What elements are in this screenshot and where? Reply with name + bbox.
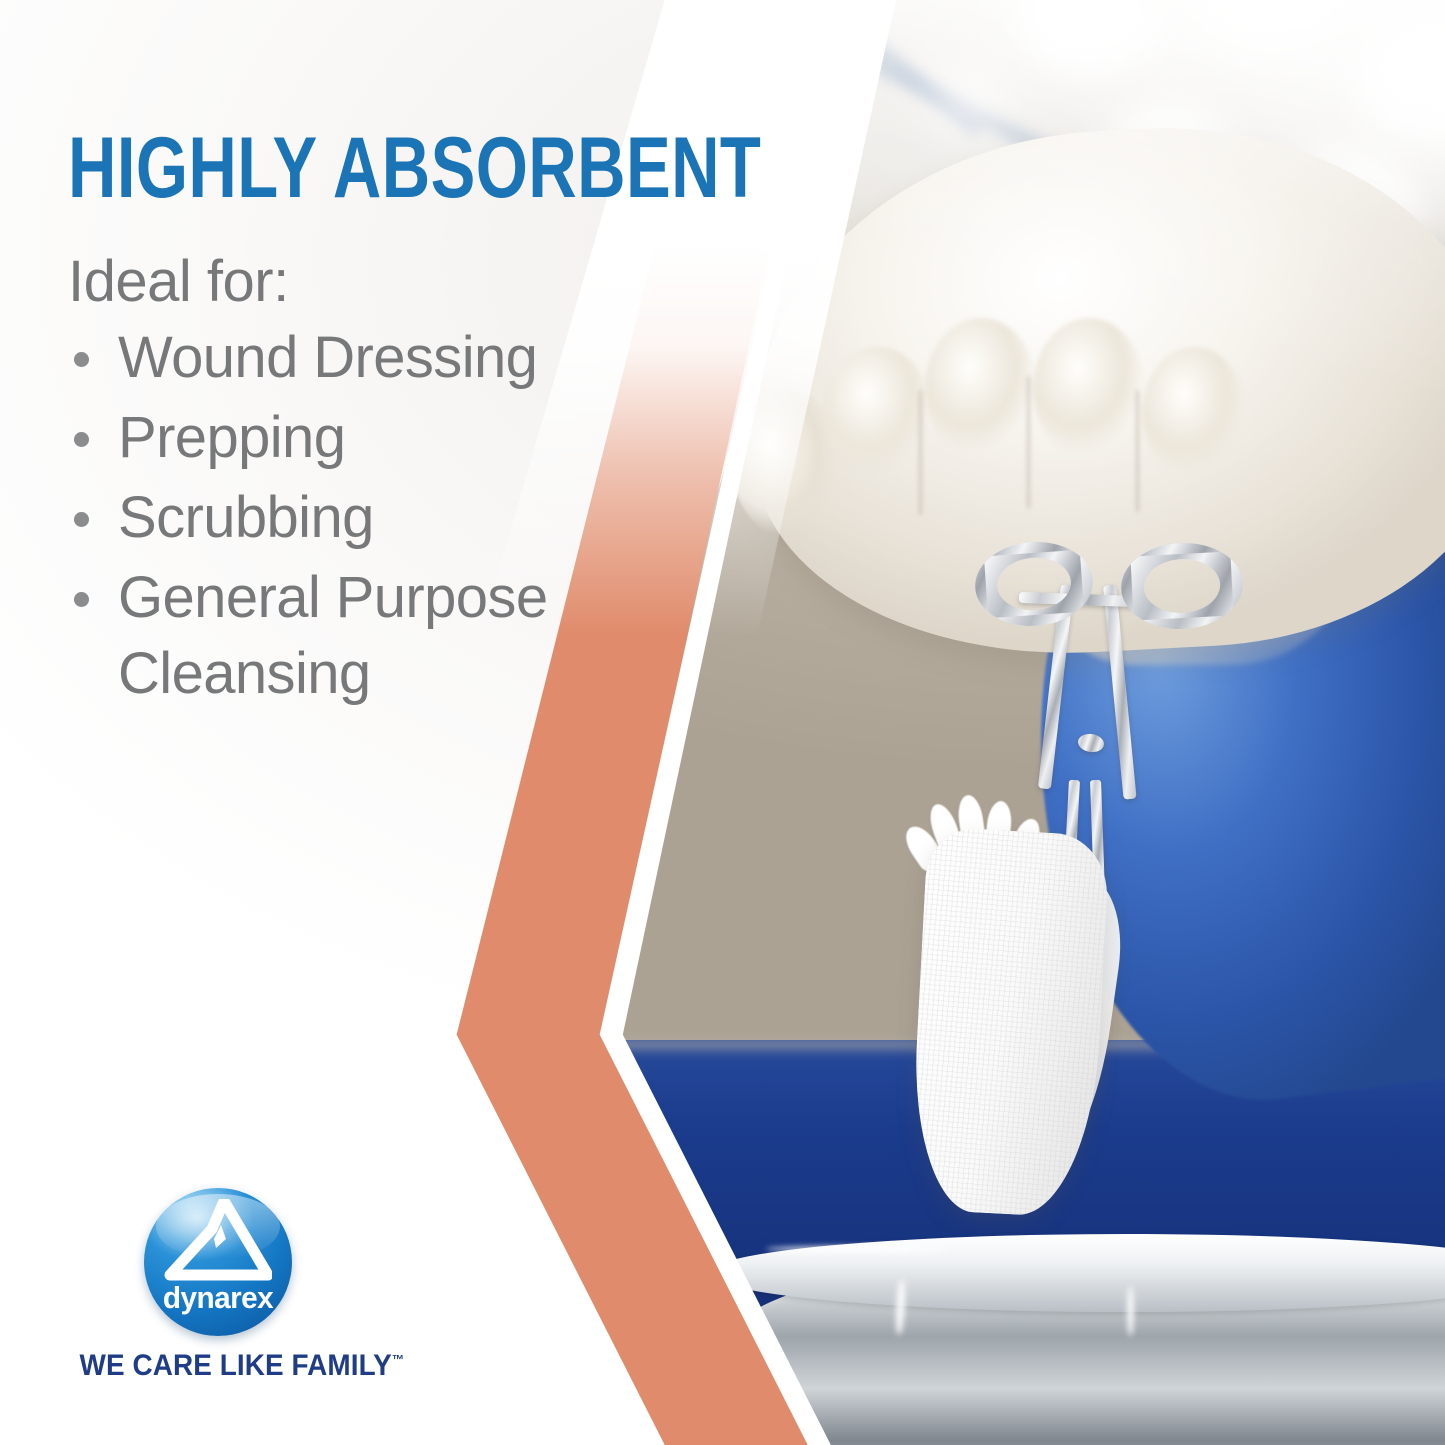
list-item: General Purpose Cleansing (68, 560, 628, 712)
list-item: Prepping (68, 400, 628, 476)
brand-logo: dynarex WE CARE LIKE FAMILY™ (68, 1188, 398, 1383)
benefits-list: Wound Dressing Prepping Scrubbing Genera… (68, 320, 628, 716)
dynarex-sphere-icon: dynarex (144, 1188, 292, 1336)
dynarex-triangle-icon (164, 1199, 272, 1281)
glove-finger (824, 347, 932, 479)
glove-finger (1142, 347, 1246, 479)
surgical-light-bokeh (925, 58, 1015, 138)
trademark-symbol: ™ (392, 1352, 404, 1367)
page-title: HIGHLY ABSORBENT (68, 125, 761, 211)
dynarex-wordmark: dynarex (147, 1280, 289, 1316)
text-panel: HIGHLY ABSORBENT Ideal for: Wound Dressi… (0, 0, 838, 1445)
glove-finger (1033, 318, 1145, 460)
glove-finger (925, 318, 1037, 458)
list-item: Wound Dressing (68, 320, 628, 396)
brand-tagline: WE CARE LIKE FAMILY™ (80, 1349, 387, 1383)
subhead-ideal-for: Ideal for: (68, 248, 289, 315)
glove-finger-crease (1027, 376, 1030, 508)
product-feature-poster: HIGHLY ABSORBENT Ideal for: Wound Dressi… (0, 0, 1445, 1445)
glove-finger-crease (1136, 390, 1139, 512)
tagline-text: WE CARE LIKE FAMILY (80, 1349, 392, 1382)
glove-finger-crease (919, 390, 922, 515)
list-item: Scrubbing (68, 480, 628, 556)
